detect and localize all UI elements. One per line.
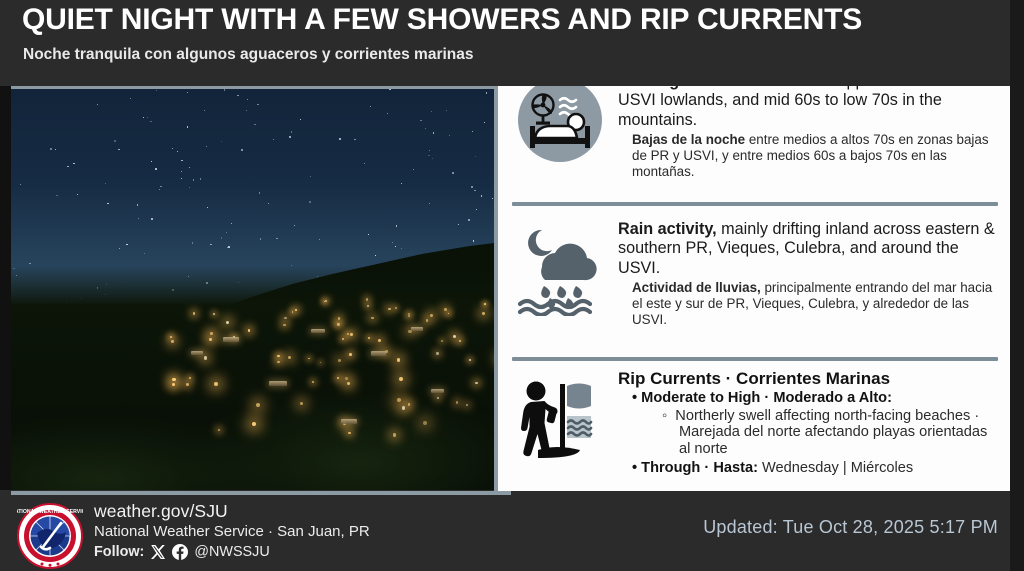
svg-text:NATIONAL WEATHER SERVICE: NATIONAL WEATHER SERVICE	[17, 509, 83, 515]
beach-flag-warning-icon	[512, 372, 608, 468]
weather-graphic-root: QUIET NIGHT WITH A FEW SHOWERS AND RIP C…	[0, 0, 1024, 571]
panel-rip-text: Rip Currents · Corrientes Marinas • Mode…	[618, 368, 1000, 478]
divider-2	[512, 357, 998, 361]
footer-follow-label: Follow:	[94, 544, 144, 560]
panel-rain-headline: Rain activity, mainly drifting inland ac…	[618, 220, 1000, 278]
background-photo	[11, 86, 507, 490]
footer-bar: NATIONAL WEATHER SERVICE weather.gov/SJU…	[0, 491, 1024, 571]
right-edge-strip	[1010, 0, 1024, 571]
updated-timestamp: Updated: Tue Oct 28, 2025 5:17 PM	[703, 517, 998, 538]
rip-bullet-duration: • Through · Hasta: Wednesday | Miércoles	[632, 459, 1000, 478]
rip-subbullet-swell: ◦ Northerly swell affecting north-facing…	[662, 408, 1000, 457]
footer-accent-strip	[11, 491, 511, 495]
panel-overnight-text: Overnight Lows in the mid to upper 70s i…	[618, 72, 1000, 180]
divider-1	[512, 202, 998, 206]
rain-cloud-moon-icon	[512, 220, 608, 316]
left-edge-strip	[0, 86, 11, 490]
nws-seal-logo: NATIONAL WEATHER SERVICE	[17, 503, 83, 569]
bed-fan-overnight-icon	[512, 72, 608, 168]
village-lights	[11, 89, 507, 490]
footer-website[interactable]: weather.gov/SJU	[94, 501, 228, 522]
page-subtitle-spanish: Noche tranquila con algunos aguaceros y …	[23, 45, 483, 64]
footer-office: National Weather Service · San Juan, PR	[94, 523, 370, 540]
panel-overnight-spanish: Bajas de la noche entre medios a altos 7…	[632, 132, 1000, 179]
panel-rain-text: Rain activity, mainly drifting inland ac…	[618, 220, 1000, 328]
rip-bullet-severity: • Moderate to High · Moderado a Alto:	[632, 389, 1000, 408]
header-bar: QUIET NIGHT WITH A FEW SHOWERS AND RIP C…	[0, 0, 1024, 86]
footer-follow-row: Follow: @NWSSJU	[94, 544, 270, 560]
info-card: Overnight Lows in the mid to upper 70s i…	[498, 50, 1010, 520]
x-twitter-icon[interactable]	[150, 544, 166, 560]
rip-currents-title: Rip Currents · Corrientes Marinas	[618, 368, 1000, 389]
facebook-icon[interactable]	[172, 544, 188, 560]
page-title: QUIET NIGHT WITH A FEW SHOWERS AND RIP C…	[22, 3, 862, 37]
footer-handle[interactable]: @NWSSJU	[194, 544, 269, 560]
panel-rain-spanish: Actividad de lluvias, principalmente ent…	[632, 280, 1000, 327]
